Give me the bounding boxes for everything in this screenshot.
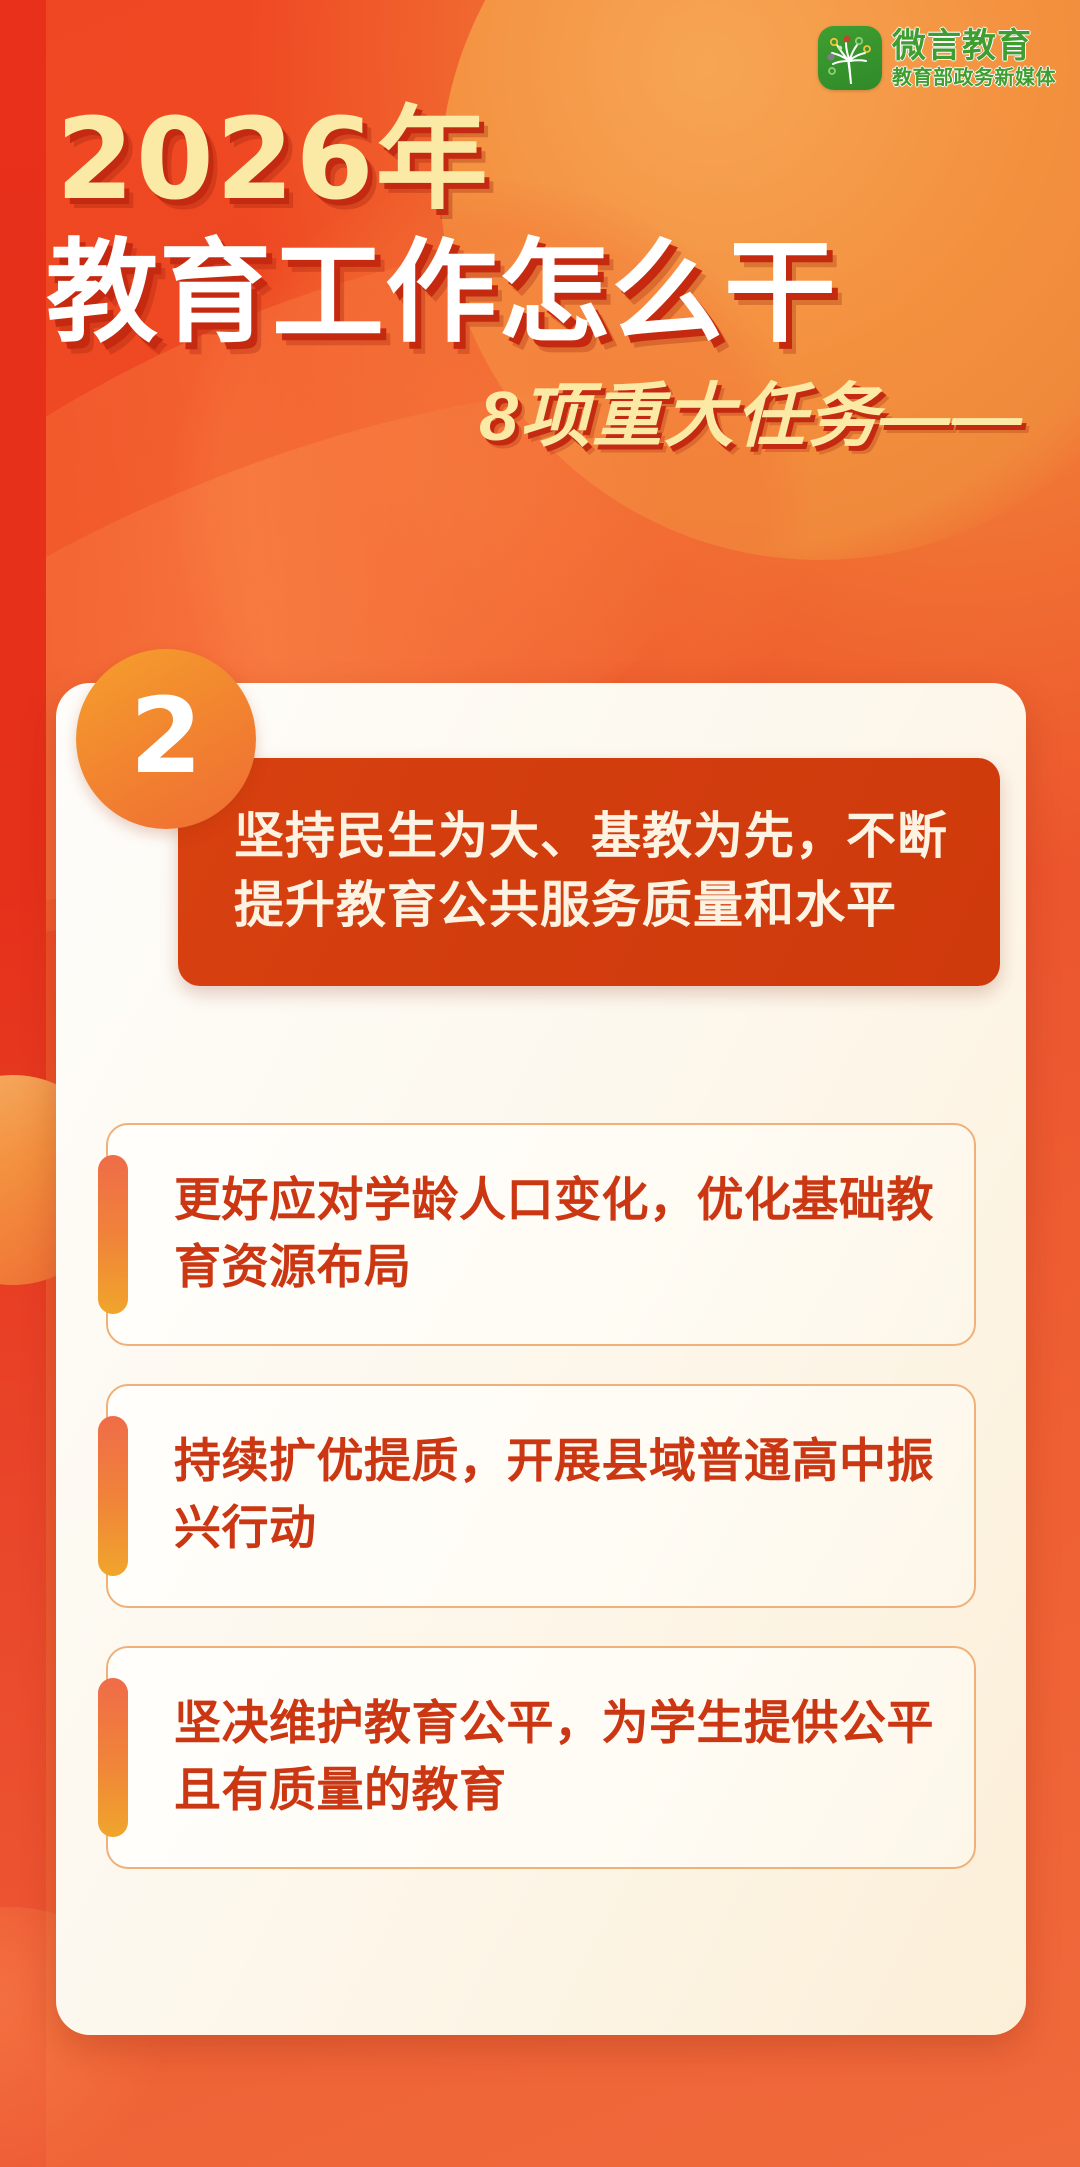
task-card: 2 坚持民生为大、基教为先，不断提升教育公共服务质量和水平 更好应对学龄人口变化… — [56, 683, 1026, 2035]
list-item-text: 坚决维护教育公平，为学生提供公平且有质量的教育 — [174, 1690, 940, 1823]
brand-logo: 微言教育 教育部政务新媒体 — [818, 26, 1056, 90]
headline-year: 2026年 — [56, 104, 1080, 216]
dandelion-logo-icon — [818, 26, 882, 90]
logo-subtitle: 教育部政务新媒体 — [892, 68, 1056, 88]
list-item[interactable]: 坚决维护教育公平，为学生提供公平且有质量的教育 — [106, 1646, 976, 1869]
headline-subtitle: 8项重大任务—— — [0, 381, 1024, 451]
task-banner: 坚持民生为大、基教为先，不断提升教育公共服务质量和水平 — [178, 758, 1000, 986]
logo-title: 微言教育 — [892, 29, 1056, 63]
task-item-list: 更好应对学龄人口变化，优化基础教育资源布局 持续扩优提质，开展县域普通高中振兴行… — [106, 1123, 976, 1869]
task-number-badge: 2 — [76, 649, 256, 829]
task-number-value: 2 — [130, 684, 202, 788]
item-accent-bar — [98, 1678, 128, 1837]
headline-main-title: 教育工作怎么干 — [46, 234, 1080, 353]
item-accent-bar — [98, 1416, 128, 1575]
poster-root: 微言教育 教育部政务新媒体 2026年 教育工作怎么干 8项重大任务—— 2 坚… — [0, 0, 1080, 2167]
task-banner-text: 坚持民生为大、基教为先，不断提升教育公共服务质量和水平 — [234, 802, 958, 940]
list-item[interactable]: 更好应对学龄人口变化，优化基础教育资源布局 — [106, 1123, 976, 1346]
logo-text-block: 微言教育 教育部政务新媒体 — [892, 29, 1056, 88]
list-item-text: 持续扩优提质，开展县域普通高中振兴行动 — [174, 1428, 940, 1561]
list-item[interactable]: 持续扩优提质，开展县域普通高中振兴行动 — [106, 1384, 976, 1607]
list-item-text: 更好应对学龄人口变化，优化基础教育资源布局 — [174, 1167, 940, 1300]
item-accent-bar — [98, 1155, 128, 1314]
